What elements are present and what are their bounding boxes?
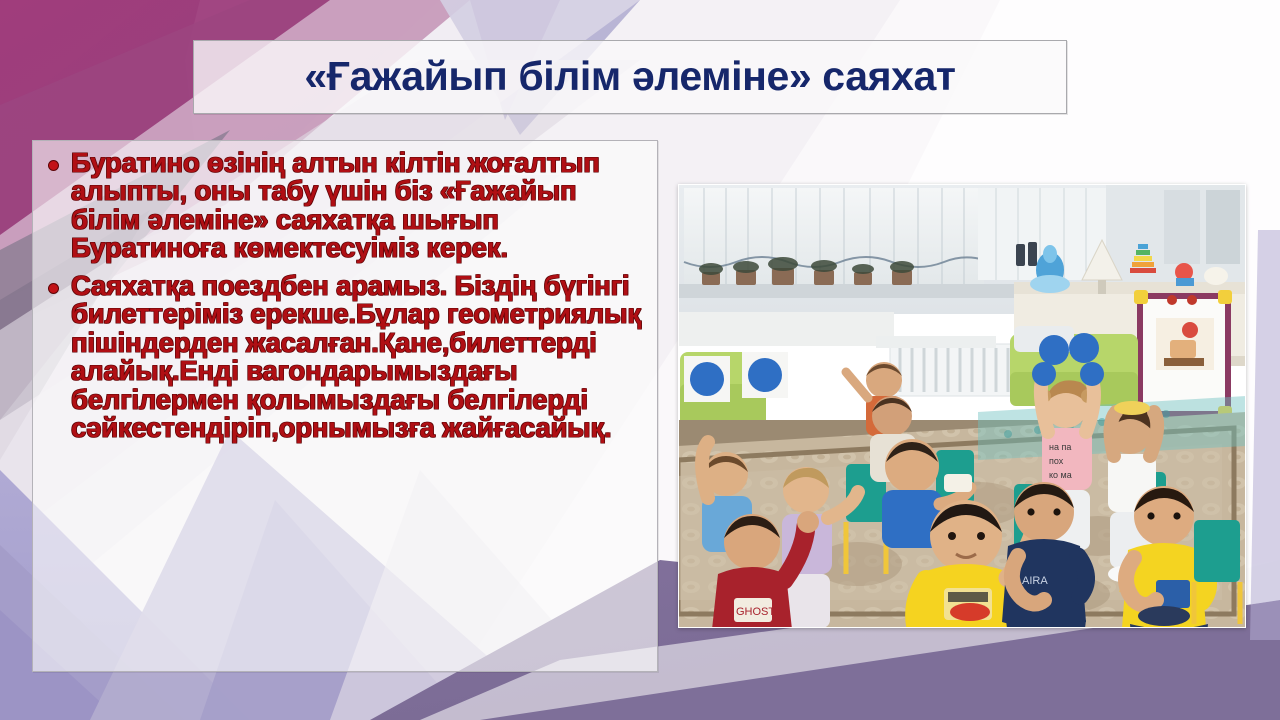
slide-title-box: «Ғажайып білім әлеміне» саяхат (193, 40, 1067, 114)
svg-text:пох: пох (1049, 456, 1064, 466)
bullet-list: Буратино өзінің алтын кілтін жоғалтып ал… (41, 149, 647, 443)
svg-text:ко ма: ко ма (1049, 470, 1072, 480)
bullet-text: Саяхатқа поездбен арамыз. Біздің бүгінгі… (71, 270, 641, 443)
svg-text:AIRA: AIRA (1022, 575, 1048, 587)
svg-text:GHOST: GHOST (736, 606, 775, 618)
bullet-dot-icon (49, 284, 58, 293)
list-item: Буратино өзінің алтын кілтін жоғалтып ал… (41, 149, 647, 263)
list-item: Саяхатқа поездбен арамыз. Біздің бүгінгі… (41, 272, 647, 443)
page-title: «Ғажайып білім әлеміне» саяхат (304, 56, 955, 97)
classroom-photo: на па пох ко ма (678, 184, 1246, 628)
bullet-dot-icon (49, 161, 58, 170)
svg-text:на па: на па (1049, 442, 1071, 452)
presentation-slide: «Ғажайып білім әлеміне» саяхат Буратино … (0, 0, 1280, 720)
bullet-text: Буратино өзінің алтын кілтін жоғалтып ал… (71, 147, 600, 263)
slide-body-textbox: Буратино өзінің алтын кілтін жоғалтып ал… (32, 140, 658, 672)
